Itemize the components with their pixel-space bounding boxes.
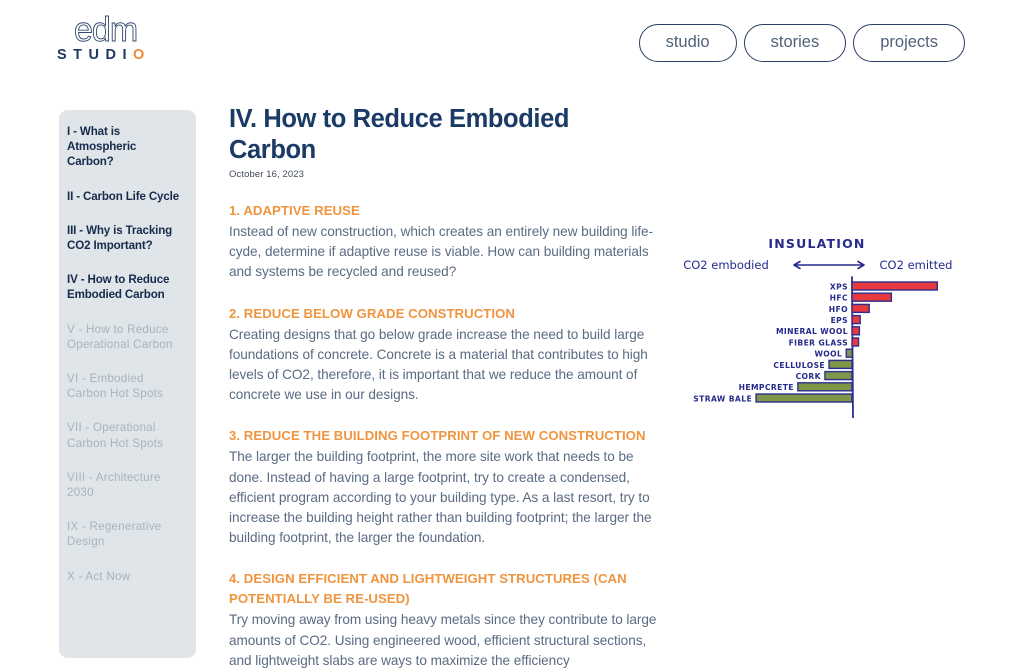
logo-wordmark: STUDIO [57, 47, 151, 63]
chart-bar: MINERAL WOOL [776, 327, 859, 336]
article-section-2: 2. REDUCE BELOW GRADE CONSTRUCTION Creat… [229, 304, 659, 406]
page-title: IV. How to Reduce Embodied Carbon [229, 104, 659, 166]
bar-rect [852, 282, 937, 290]
bar-label: EPS [831, 316, 848, 325]
section-body-3: The larger the building footprint, the m… [229, 447, 659, 548]
bar-rect [846, 349, 852, 357]
site-header: edm STUDIO studio stories projects [0, 0, 1024, 78]
axis-label-emitted: CO2 emitted [880, 258, 953, 272]
chart-bar: CELLULOSE [773, 360, 852, 369]
insulation-carbon-chart: INSULATIONCO2 embodiedCO2 emittedXPSHFCH… [668, 232, 978, 418]
bar-label: CORK [796, 372, 822, 381]
bar-rect [852, 304, 869, 312]
sidebar-item-2[interactable]: II - Carbon Life Cycle [67, 189, 184, 204]
bar-rect [825, 372, 852, 380]
section-body-1: Instead of new construction, which creat… [229, 222, 659, 283]
logo-wordmark-text: STUDI [57, 47, 133, 63]
bar-rect [852, 338, 859, 346]
page-root: edm STUDIO studio stories projects I - W… [0, 0, 1024, 672]
sidebar-item-8[interactable]: VIII - Architecture 2030 [67, 470, 184, 500]
sidebar-item-1[interactable]: I - What is Atmospheric Carbon? [67, 124, 184, 170]
section-body-2: Creating designs that go below grade inc… [229, 325, 659, 406]
logo-mark-edm: edm [74, 13, 137, 47]
chart-bar: FIBER GLASS [789, 338, 859, 347]
direction-arrow-icon [794, 262, 864, 269]
chart-title: INSULATION [768, 236, 865, 251]
section-heading-1: 1. ADAPTIVE REUSE [229, 201, 659, 221]
chart-bar: STRAW BALE [693, 394, 852, 403]
site-logo[interactable]: edm STUDIO [57, 13, 217, 63]
chart-bar: CORK [796, 372, 852, 381]
main-navigation: studio stories projects [639, 24, 965, 62]
axis-label-embodied: CO2 embodied [683, 258, 769, 272]
bar-label: STRAW BALE [693, 394, 752, 403]
section-heading-2: 2. REDUCE BELOW GRADE CONSTRUCTION [229, 304, 659, 324]
article-body: IV. How to Reduce Embodied Carbon Octobe… [229, 104, 659, 672]
article-section-4: 4. DESIGN EFFICIENT AND LIGHTWEIGHT STRU… [229, 569, 659, 671]
chart-bar: HEMPCRETE [739, 383, 852, 392]
bar-label: HEMPCRETE [739, 383, 794, 392]
bar-label: FIBER GLASS [789, 338, 848, 347]
chart-bar: HFO [829, 304, 869, 313]
chapter-sidebar: I - What is Atmospheric Carbon? II - Car… [59, 110, 196, 658]
bar-rect [829, 360, 852, 368]
chart-bar: XPS [830, 282, 937, 291]
section-heading-3: 3. REDUCE THE BUILDING FOOTPRINT OF NEW … [229, 426, 659, 446]
article-section-3: 3. REDUCE THE BUILDING FOOTPRINT OF NEW … [229, 426, 659, 548]
chart-bar: HFC [830, 293, 892, 302]
article-date: October 16, 2023 [229, 169, 659, 180]
chart-bar: EPS [831, 316, 861, 325]
nav-stories-button[interactable]: stories [744, 24, 847, 62]
sidebar-item-9[interactable]: IX - Regenerative Design [67, 519, 184, 549]
sidebar-item-3[interactable]: III - Why is Tracking CO2 Important? [67, 223, 184, 253]
chart-svg: INSULATIONCO2 embodiedCO2 emittedXPSHFCH… [668, 232, 978, 418]
chart-bar: WOOL [815, 349, 853, 358]
sidebar-item-7[interactable]: VII - Operational Carbon Hot Spots [67, 420, 184, 450]
bar-rect [852, 316, 860, 324]
nav-studio-button[interactable]: studio [639, 24, 737, 62]
nav-projects-button[interactable]: projects [853, 24, 965, 62]
bar-rect [798, 383, 852, 391]
bar-label: XPS [830, 282, 848, 291]
sidebar-item-5[interactable]: V - How to Reduce Operational Carbon [67, 322, 184, 352]
sidebar-item-6[interactable]: VI - Embodied Carbon Hot Spots [67, 371, 184, 401]
sidebar-item-10[interactable]: X - Act Now [67, 569, 184, 584]
bar-rect [852, 293, 891, 301]
bar-label: HFC [830, 294, 848, 303]
section-heading-4: 4. DESIGN EFFICIENT AND LIGHTWEIGHT STRU… [229, 569, 659, 609]
sidebar-item-4[interactable]: IV - How to Reduce Embodied Carbon [67, 272, 184, 302]
article-section-1: 1. ADAPTIVE REUSE Instead of new constru… [229, 201, 659, 283]
bar-label: CELLULOSE [773, 361, 825, 370]
bar-label: WOOL [815, 350, 843, 359]
bar-label: HFO [829, 305, 848, 314]
logo-wordmark-accent: O [133, 47, 151, 63]
bar-label: MINERAL WOOL [776, 327, 848, 336]
bar-rect [756, 394, 852, 402]
section-body-4: Try moving away from using heavy metals … [229, 610, 659, 671]
bar-rect [852, 327, 859, 335]
